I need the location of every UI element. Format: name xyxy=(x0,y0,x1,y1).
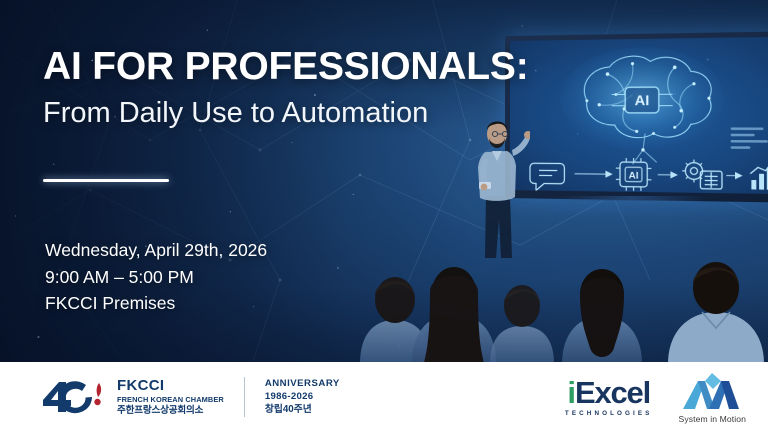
system-in-motion-logo: System in Motion xyxy=(678,371,746,424)
audience-member xyxy=(562,269,642,364)
anniversary-title: ANNIVERSARY xyxy=(265,379,340,389)
anniversary-korean: 창립40주년 xyxy=(265,405,340,415)
screen-stand xyxy=(556,196,706,201)
screen-particles xyxy=(510,37,768,194)
iexcel-logo: i Excel TECHNOLOGIES xyxy=(565,377,653,417)
fkcci-name: FKCCI xyxy=(117,378,224,393)
title-divider xyxy=(43,179,169,182)
iexcel-wordmark: i Excel xyxy=(567,377,650,408)
event-date: Wednesday, April 29th, 2026 xyxy=(45,237,445,264)
fkcci-40-mark-icon xyxy=(42,379,108,415)
iexcel-tagline: TECHNOLOGIES xyxy=(565,411,653,417)
screen-display: AI xyxy=(510,37,768,194)
footer-right-group: i Excel TECHNOLOGIES System in Motion xyxy=(565,362,746,432)
event-details: Wednesday, April 29th, 2026 9:00 AM – 5:… xyxy=(45,237,445,317)
audience-member xyxy=(668,262,764,364)
fkcci-wordmark: FKCCI FRENCH KOREAN CHAMBER 주한프랑스상공회의소 xyxy=(117,378,224,416)
iexcel-i-letter: i xyxy=(567,377,575,408)
footer-left-group: FKCCI FRENCH KOREAN CHAMBER 주한프랑스상공회의소 A… xyxy=(42,362,340,432)
audience-member xyxy=(490,285,554,364)
event-time: 9:00 AM – 5:00 PM xyxy=(45,264,445,291)
event-banner: AI xyxy=(0,0,768,432)
presentation-screen: AI xyxy=(505,31,768,202)
anniversary-block: ANNIVERSARY 1986-2026 창립40주년 xyxy=(265,379,340,415)
event-venue: FKCCI Premises xyxy=(45,290,445,317)
fkcci-full-name: FRENCH KOREAN CHAMBER xyxy=(117,396,224,403)
motion-m-mark-icon xyxy=(681,371,743,411)
footer-divider xyxy=(244,377,245,417)
fkcci-korean-name: 주한프랑스상공회의소 xyxy=(117,406,224,416)
iexcel-name: Excel xyxy=(575,377,650,408)
footer-bar: FKCCI FRENCH KOREAN CHAMBER 주한프랑스상공회의소 A… xyxy=(0,362,768,432)
page-subtitle: From Daily Use to Automation xyxy=(43,97,473,130)
motion-tagline: System in Motion xyxy=(678,415,746,424)
page-title: AI FOR PROFESSIONALS: xyxy=(43,47,473,86)
anniversary-years: 1986-2026 xyxy=(265,392,340,402)
presenter-figure xyxy=(470,108,530,258)
